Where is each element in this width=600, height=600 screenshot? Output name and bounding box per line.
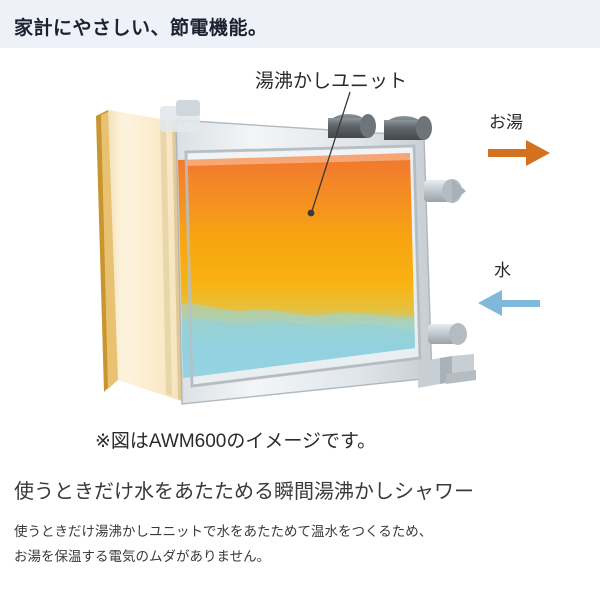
figure-caption: ※図はAWM600のイメージです。 xyxy=(95,426,376,453)
arrow-right-icon xyxy=(486,136,556,170)
product-feature-panel: 家計にやさしい、節電機能。 xyxy=(0,0,600,600)
feature-heading: 使うときだけ水をあたためる瞬間湯沸かしシャワー xyxy=(14,478,594,506)
flow-label-cold-water: 水 xyxy=(494,256,511,281)
feature-description: 使うときだけ水をあたためる瞬間湯沸かしシャワー 使うときだけ湯沸かしユニットで水… xyxy=(14,478,594,570)
callout-label-heating-unit: 湯沸かしユニット xyxy=(255,66,407,93)
product-figure: 湯沸かしユニット お湯 水 ※図はAWM600のイメージです。 xyxy=(0,48,600,448)
feature-body-line-1: 使うときだけ湯沸かしユニットで水をあたためて温水をつくるため、 xyxy=(14,520,594,545)
arrow-left-icon xyxy=(474,286,544,320)
section-header: 家計にやさしい、節電機能。 xyxy=(0,0,600,48)
feature-body-line-2: お湯を保温する電気のムダがありません。 xyxy=(14,545,594,570)
flow-label-hot-water: お湯 xyxy=(489,108,523,133)
page-title: 家計にやさしい、節電機能。 xyxy=(14,13,268,40)
